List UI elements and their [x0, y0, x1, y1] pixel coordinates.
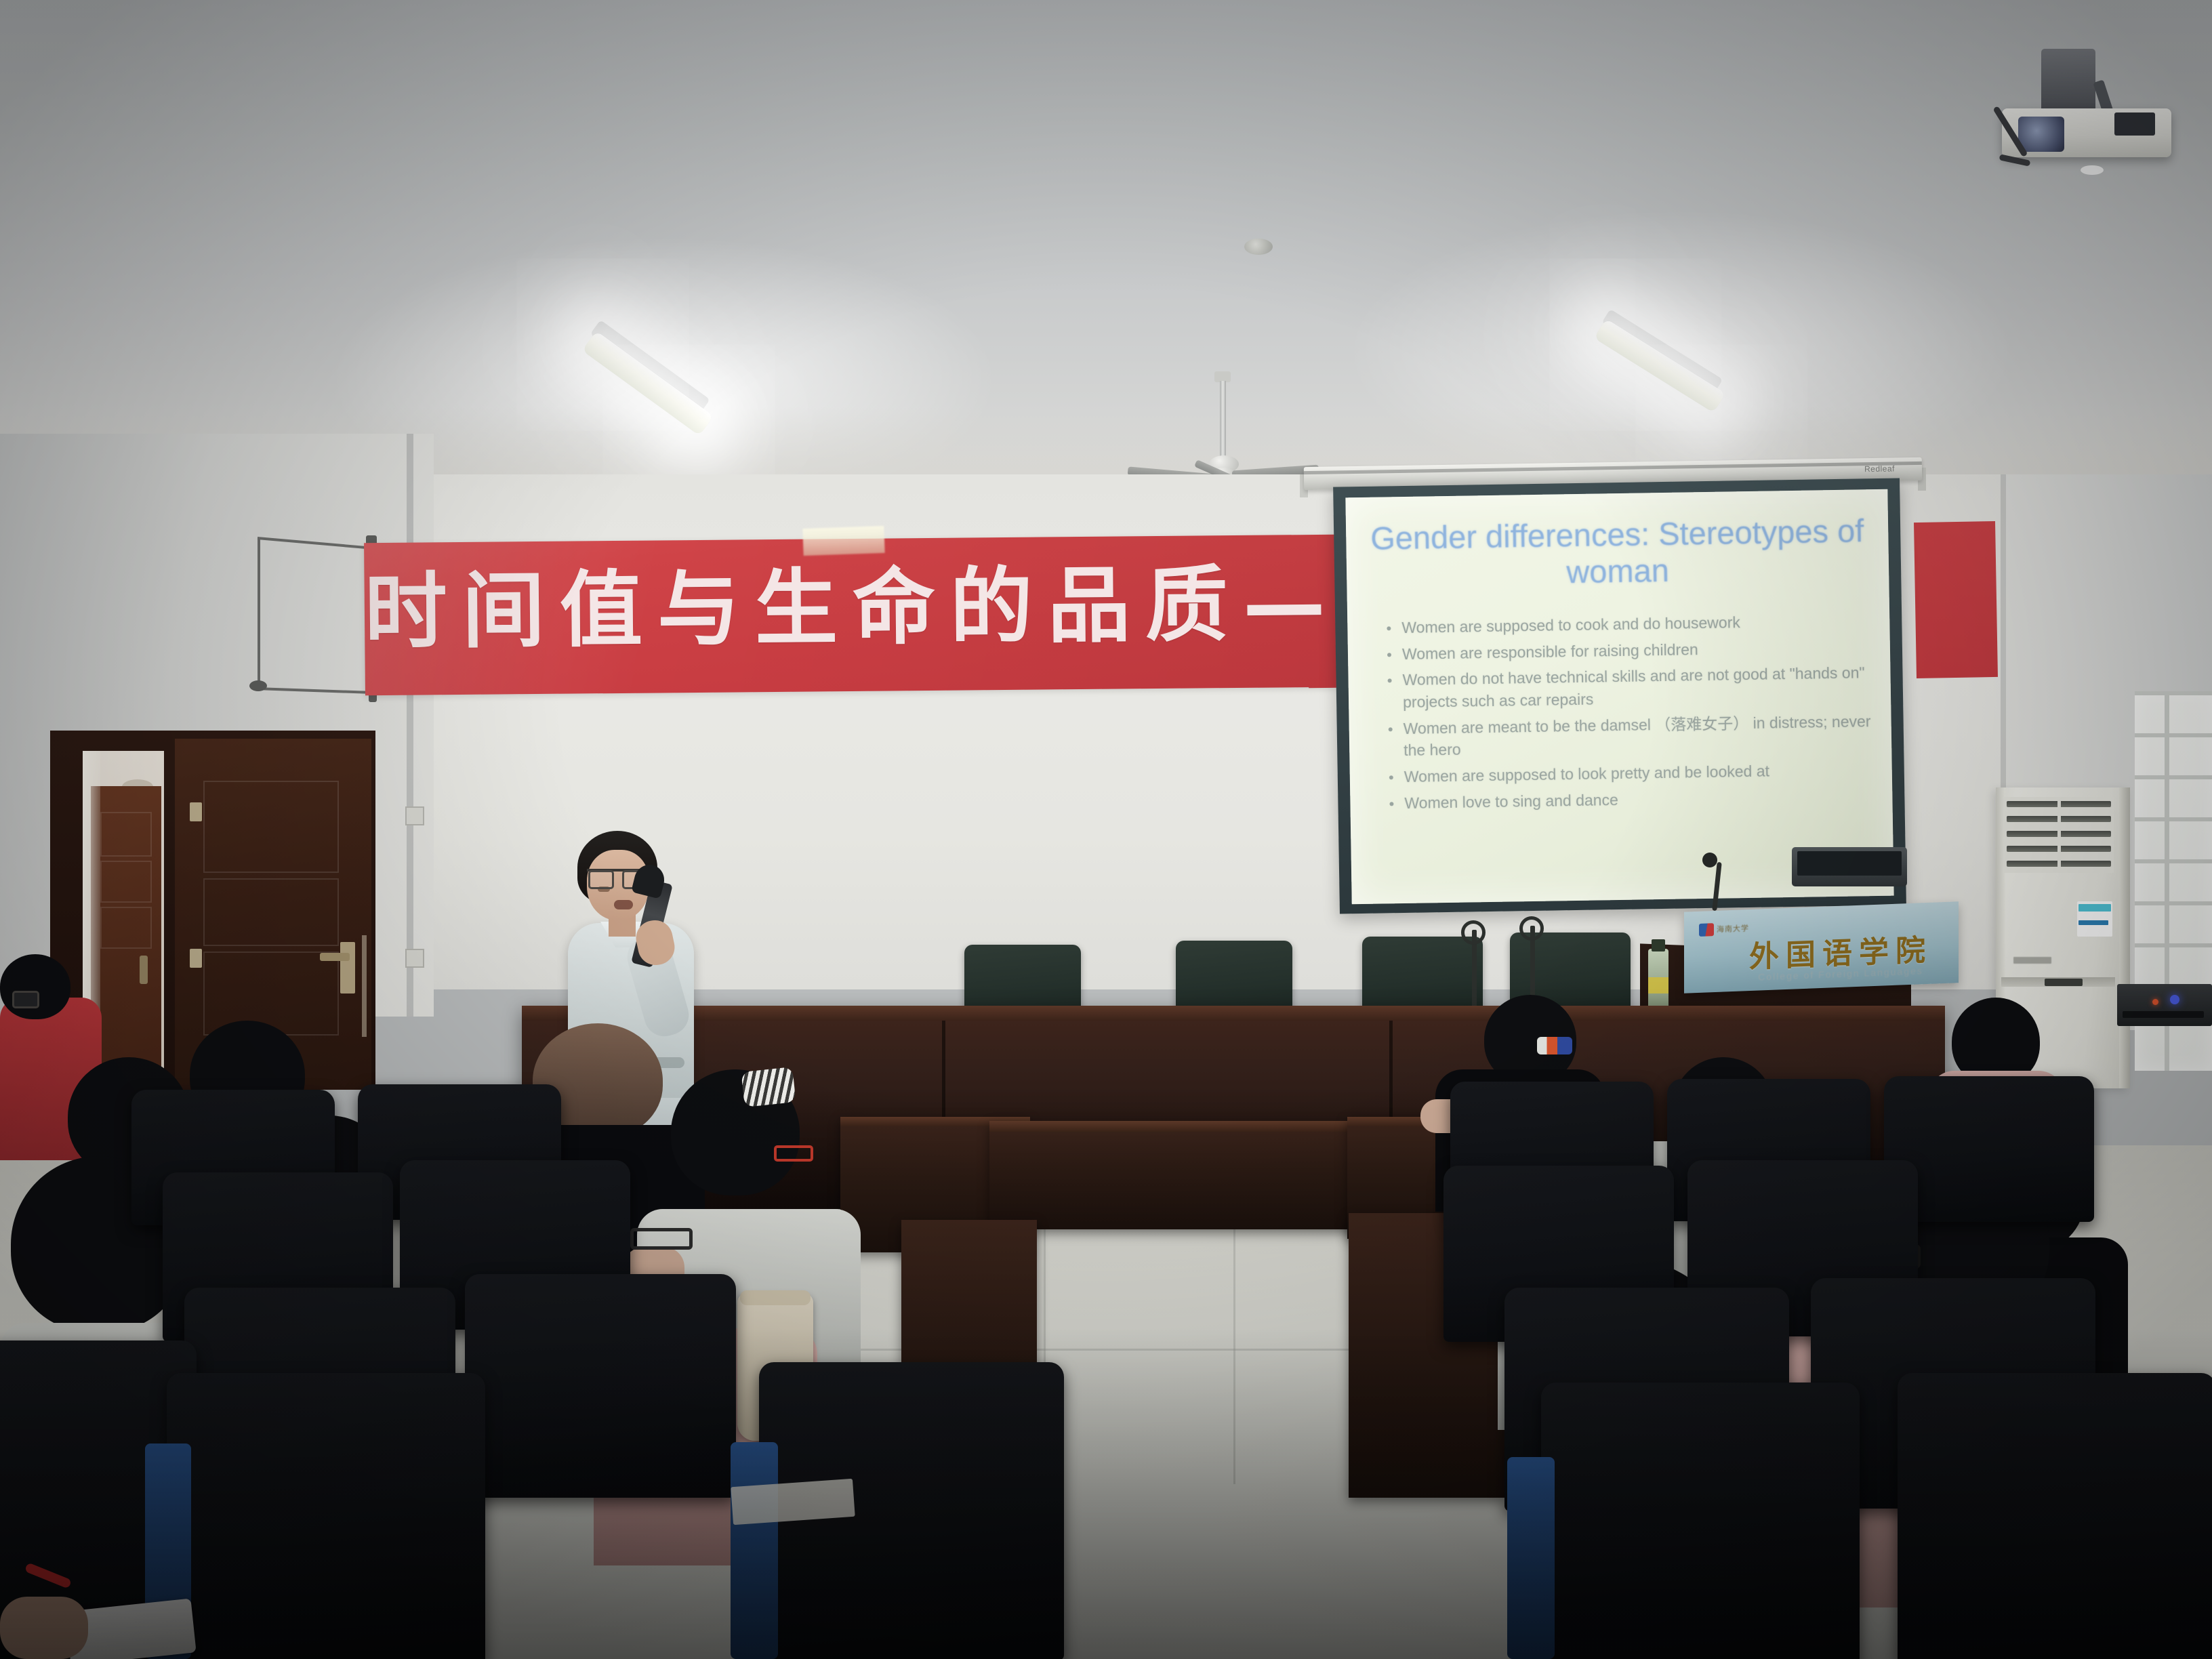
drawstring-bag-tie: [740, 1290, 811, 1305]
auditorium-seat[interactable]: [465, 1274, 736, 1498]
lecture-hall-photo: 时间值与生命的品质——高 Redleaf Gender differences:…: [0, 0, 2212, 1659]
audience-head: [0, 954, 70, 1019]
audience-hair-bow: [1537, 1037, 1572, 1054]
auditorium-seat[interactable]: [1898, 1373, 2212, 1659]
seat-armrest: [1507, 1457, 1555, 1659]
auditorium-seat[interactable]: [167, 1373, 485, 1659]
seat-armrest: [731, 1442, 778, 1659]
audience-glasses: [630, 1228, 693, 1250]
auditorium-seat[interactable]: [1541, 1382, 1860, 1659]
audience-glasses: [12, 991, 39, 1008]
striped-hair-bow: [741, 1067, 796, 1107]
audience-hand: [0, 1597, 88, 1659]
audience-red-glasses: [774, 1145, 813, 1162]
